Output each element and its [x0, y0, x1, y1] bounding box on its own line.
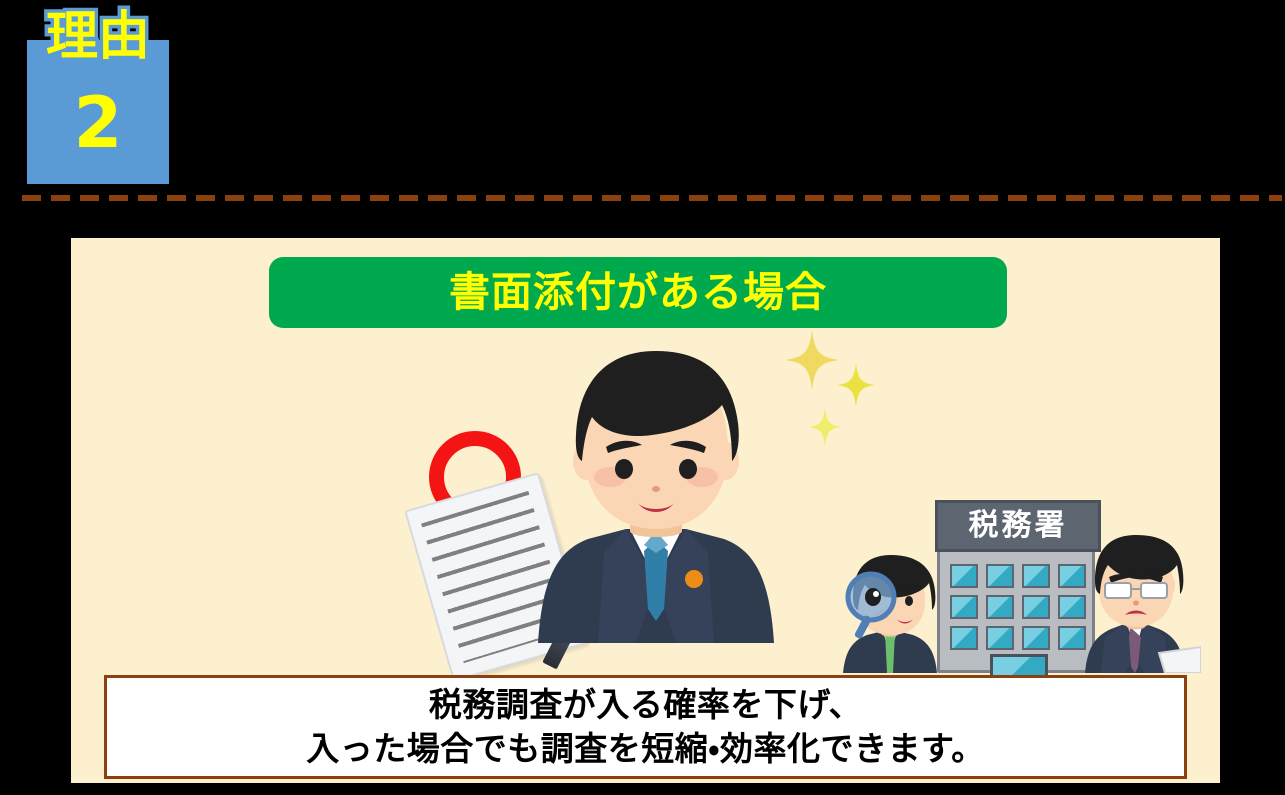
- sparkle-large-icon: [785, 330, 839, 390]
- caption-box: 税務調査が入る確率を下げ、 入った場合でも調査を短縮・効率化できます。: [104, 675, 1187, 779]
- caption-line-2: 入った場合でも調査を短縮・効率化できます。: [306, 727, 984, 771]
- tax-office-sign: 税務署: [935, 500, 1101, 552]
- tax-office-building: 税務署: [937, 501, 1095, 673]
- building-window: [950, 564, 978, 588]
- content-panel: 書面添付がある場合: [71, 238, 1220, 783]
- building-window: [1022, 626, 1050, 650]
- illustration-stage: 税務署: [71, 333, 1220, 673]
- sparkle-medium-icon: [837, 363, 875, 407]
- building-window: [986, 595, 1014, 619]
- caption-line-1: 税務調査が入る確率を下げ、: [429, 683, 862, 727]
- building-window: [1022, 564, 1050, 588]
- slide-root: 理由 2 書面添付がある場合: [0, 0, 1285, 795]
- sparkle-small-icon: [809, 408, 841, 446]
- tax-office-group: 税務署: [841, 493, 1201, 673]
- section-banner: 書面添付がある場合: [269, 257, 1007, 328]
- building-window: [950, 626, 978, 650]
- tax-office-sign-label: 税務署: [969, 511, 1068, 541]
- reason-badge: 理由 2: [27, 40, 169, 184]
- confident-businessman-figure: [526, 343, 786, 643]
- reason-badge-number: 2: [27, 88, 169, 158]
- building-window-grid: [950, 564, 1086, 650]
- serious-officer-figure: [1081, 533, 1201, 673]
- section-banner-label: 書面添付がある場合: [449, 272, 827, 313]
- building-window: [986, 564, 1014, 588]
- building-window: [950, 595, 978, 619]
- magnifier-investigator-figure: [841, 553, 951, 673]
- divider-dash-row: [22, 195, 1282, 201]
- building-window: [986, 626, 1014, 650]
- reason-badge-label: 理由: [46, 11, 150, 63]
- dashed-divider: [22, 195, 1282, 201]
- building-window: [1022, 595, 1050, 619]
